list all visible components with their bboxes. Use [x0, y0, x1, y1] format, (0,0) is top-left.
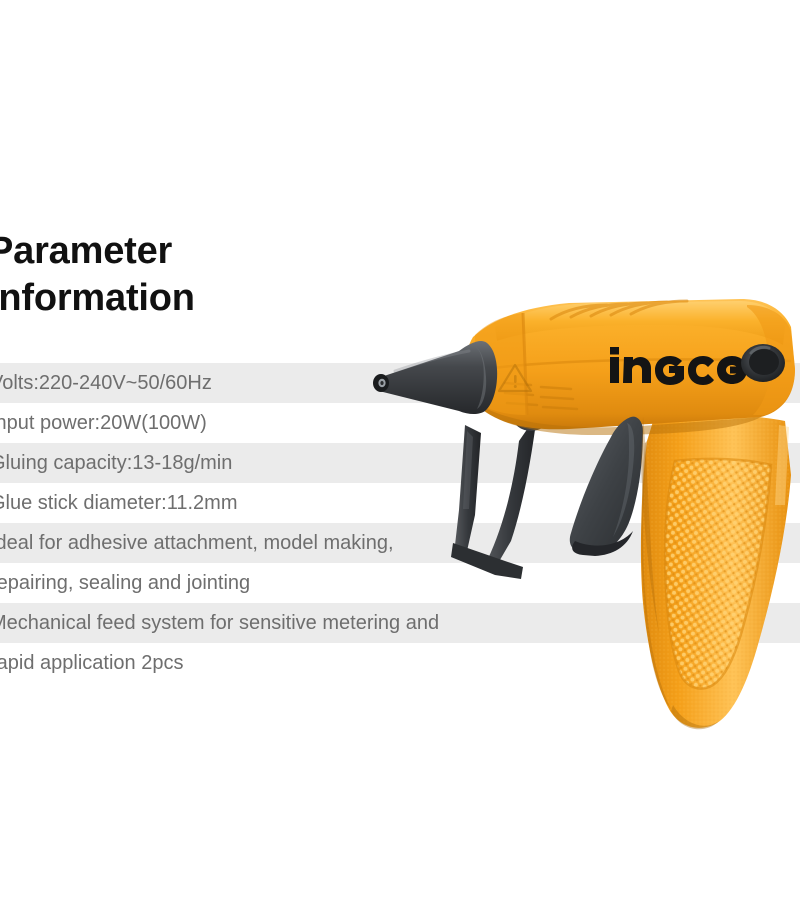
product-image	[355, 265, 800, 735]
spec-text: Glue stick diameter:11.2mm	[0, 483, 238, 523]
spec-text: repairing, sealing and jointing	[0, 563, 250, 603]
spec-text: Ideal for adhesive attachment, model mak…	[0, 523, 394, 563]
trigger-icon	[570, 417, 643, 556]
spec-text: Gluing capacity:13-18g/min	[0, 443, 232, 483]
spec-text: Input power:20W(100W)	[0, 403, 207, 443]
product-spec-page: Parameter Information Volts:220-240V~50/…	[0, 0, 800, 900]
page-title-line-2: Information	[0, 275, 408, 322]
spec-text: Volts:220-240V~50/60Hz	[0, 363, 212, 403]
nozzle-icon	[373, 341, 497, 414]
spec-text: rapid application 2pcs	[0, 643, 183, 683]
handle-grip	[641, 414, 791, 729]
page-title-line-1: Parameter	[0, 228, 408, 275]
page-title: Parameter Information	[0, 228, 408, 322]
